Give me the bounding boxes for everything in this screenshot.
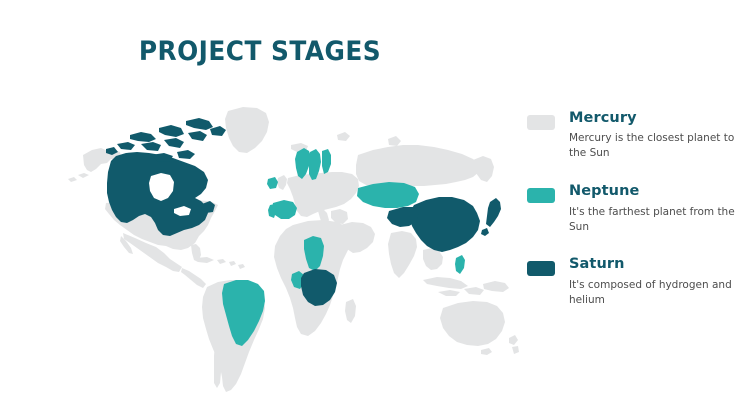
region-united-kingdom [277, 175, 287, 190]
region-australia [440, 301, 505, 346]
map-base-layer [68, 107, 519, 392]
mercury-color-swatch [527, 115, 555, 130]
region-madagascar [345, 299, 356, 323]
legend-item-saturn-description: It's composed of hydrogen and helium [569, 278, 739, 308]
region-svalbard [337, 132, 350, 141]
world-map[interactable] [8, 80, 520, 400]
region-finland-highlight[interactable] [322, 149, 331, 174]
region-novaya-zemlya [388, 136, 401, 146]
saturn-color-swatch [527, 261, 555, 276]
legend-item-saturn-label: Saturn [569, 256, 739, 273]
region-aleutians [68, 173, 89, 182]
region-new-guinea [483, 281, 509, 292]
map-legend: Mercury Mercury is the closest planet to… [527, 110, 739, 308]
legend-item-mercury-description: Mercury is the closest planet to the Sun [569, 131, 739, 161]
region-indonesia [423, 277, 484, 296]
region-kazakhstan-highlight[interactable] [357, 182, 419, 208]
slide-canvas: PROJECT STAGES [0, 0, 747, 420]
region-greenland [225, 107, 269, 153]
region-tasmania [481, 348, 492, 355]
page-title: PROJECT STAGES [21, 36, 499, 67]
world-map-svg[interactable] [8, 80, 520, 400]
region-spain-highlight[interactable] [272, 200, 297, 219]
region-central-america [181, 268, 206, 288]
legend-item-mercury[interactable]: Mercury Mercury is the closest planet to… [527, 110, 739, 161]
region-new-zealand [509, 335, 519, 354]
region-caribbean [196, 257, 245, 269]
legend-item-neptune-description: It's the farthest planet from the Sun [569, 205, 739, 235]
legend-item-mercury-label: Mercury [569, 110, 739, 127]
legend-item-neptune[interactable]: Neptune It's the farthest planet from th… [527, 183, 739, 234]
region-india [388, 231, 417, 278]
region-portugal-highlight[interactable] [268, 204, 276, 218]
region-ireland-highlight[interactable] [267, 177, 278, 189]
legend-item-neptune-label: Neptune [569, 183, 739, 200]
legend-item-saturn[interactable]: Saturn It's composed of hydrogen and hel… [527, 256, 739, 307]
neptune-color-swatch [527, 188, 555, 203]
region-russia [356, 145, 480, 186]
region-russia-far-east [472, 156, 494, 182]
region-philippines-highlight[interactable] [455, 255, 465, 274]
region-japan-highlight[interactable] [481, 198, 501, 236]
region-china-highlight[interactable] [410, 197, 480, 252]
